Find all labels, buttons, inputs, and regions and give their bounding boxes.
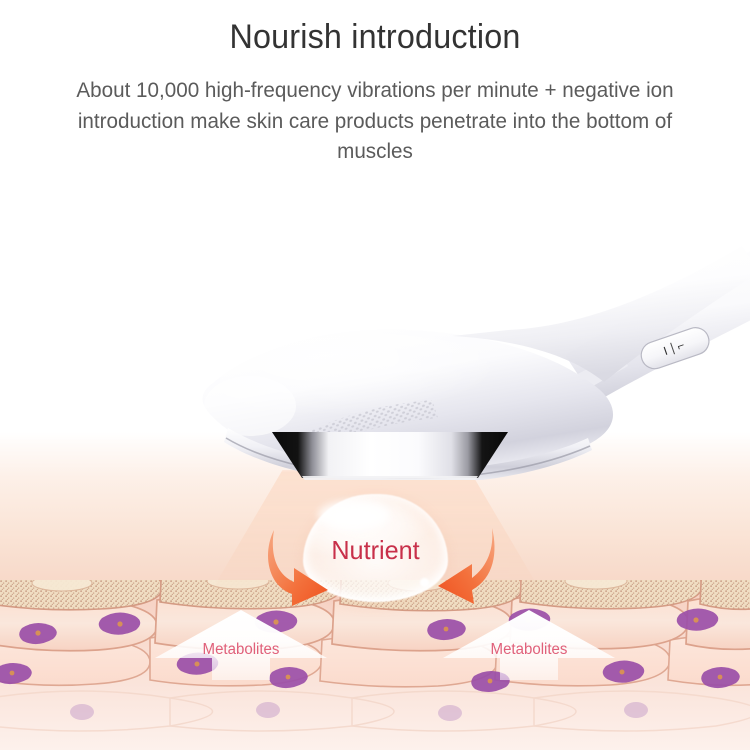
treatment-head-icon [272,432,508,478]
button-glyph-left: I [662,345,669,357]
page-subtitle: About 10,000 high-frequency vibrations p… [39,57,711,167]
metabolites-label-left: Metabolites [149,641,333,659]
metabolites-indicator-right: Metabolites [434,608,624,680]
metabolites-indicator-left: Metabolites [146,608,336,680]
product-infographic: Nourish introduction About 10,000 high-f… [0,0,750,750]
metabolites-label-right: Metabolites [437,641,621,659]
nutrient-label: Nutrient [305,535,446,566]
button-glyph-right: ⌐ [676,339,687,353]
skin-cross-section [0,580,750,750]
header-block: Nourish introduction About 10,000 high-f… [0,0,750,167]
button-glyph-divider [670,343,675,355]
beauty-device-illustration [0,150,750,480]
page-title: Nourish introduction [19,0,732,57]
skin-layers-illustration [0,580,750,750]
